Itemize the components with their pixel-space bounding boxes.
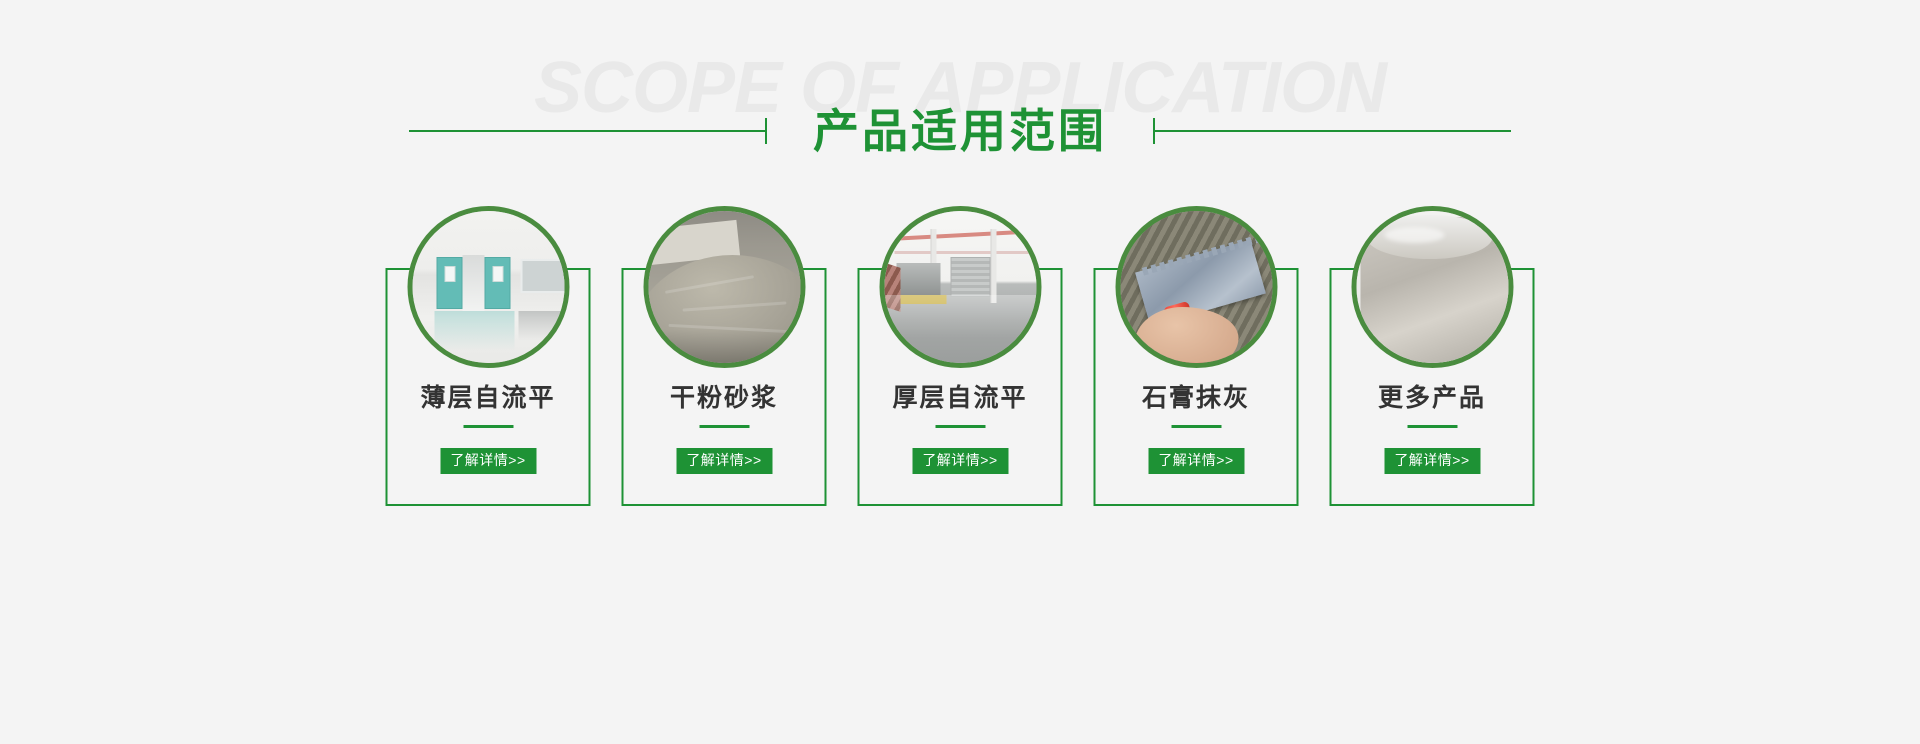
section-header: SCOPE OF APPLICATION 产品适用范围 [0, 0, 1920, 200]
learn-more-button[interactable]: 了解详情>> [676, 448, 772, 474]
title-row: 产品适用范围 [0, 100, 1920, 162]
tick-mark-left [765, 118, 767, 144]
card-divider [1171, 425, 1221, 428]
card-title: 石膏抹灰 [1094, 386, 1299, 411]
application-card-list: 薄层自流平 了解详情>> 干粉砂浆 [386, 206, 1535, 506]
thin-layer-self-levelling-floor-photo [407, 206, 569, 368]
learn-more-button[interactable]: 了解详情>> [1384, 448, 1480, 474]
page-title: 产品适用范围 [767, 108, 1153, 154]
application-card[interactable]: 石膏抹灰 了解详情>> [1094, 206, 1299, 506]
gypsum-plastering-trowel-photo [1115, 206, 1277, 368]
card-divider [1407, 425, 1457, 428]
dry-powder-mortar-photo [643, 206, 805, 368]
card-divider [699, 425, 749, 428]
application-card[interactable]: 干粉砂浆 了解详情>> [622, 206, 827, 506]
card-title: 干粉砂浆 [622, 386, 827, 411]
card-title: 厚层自流平 [858, 386, 1063, 411]
card-divider [463, 425, 513, 428]
card-title: 薄层自流平 [386, 386, 591, 411]
scope-of-application-section: SCOPE OF APPLICATION 产品适用范围 [0, 0, 1920, 744]
title-rule-left [409, 130, 767, 132]
application-card[interactable]: 更多产品 了解详情>> [1330, 206, 1535, 506]
card-divider [935, 425, 985, 428]
learn-more-button[interactable]: 了解详情>> [912, 448, 1008, 474]
application-card[interactable]: 厚层自流平 了解详情>> [858, 206, 1063, 506]
thick-layer-self-levelling-warehouse-photo [879, 206, 1041, 368]
application-card[interactable]: 薄层自流平 了解详情>> [386, 206, 591, 506]
card-title: 更多产品 [1330, 386, 1535, 411]
more-products-photo [1351, 206, 1513, 368]
title-rule-right [1153, 130, 1511, 132]
learn-more-button[interactable]: 了解详情>> [440, 448, 536, 474]
tick-mark-right [1153, 118, 1155, 144]
learn-more-button[interactable]: 了解详情>> [1148, 448, 1244, 474]
